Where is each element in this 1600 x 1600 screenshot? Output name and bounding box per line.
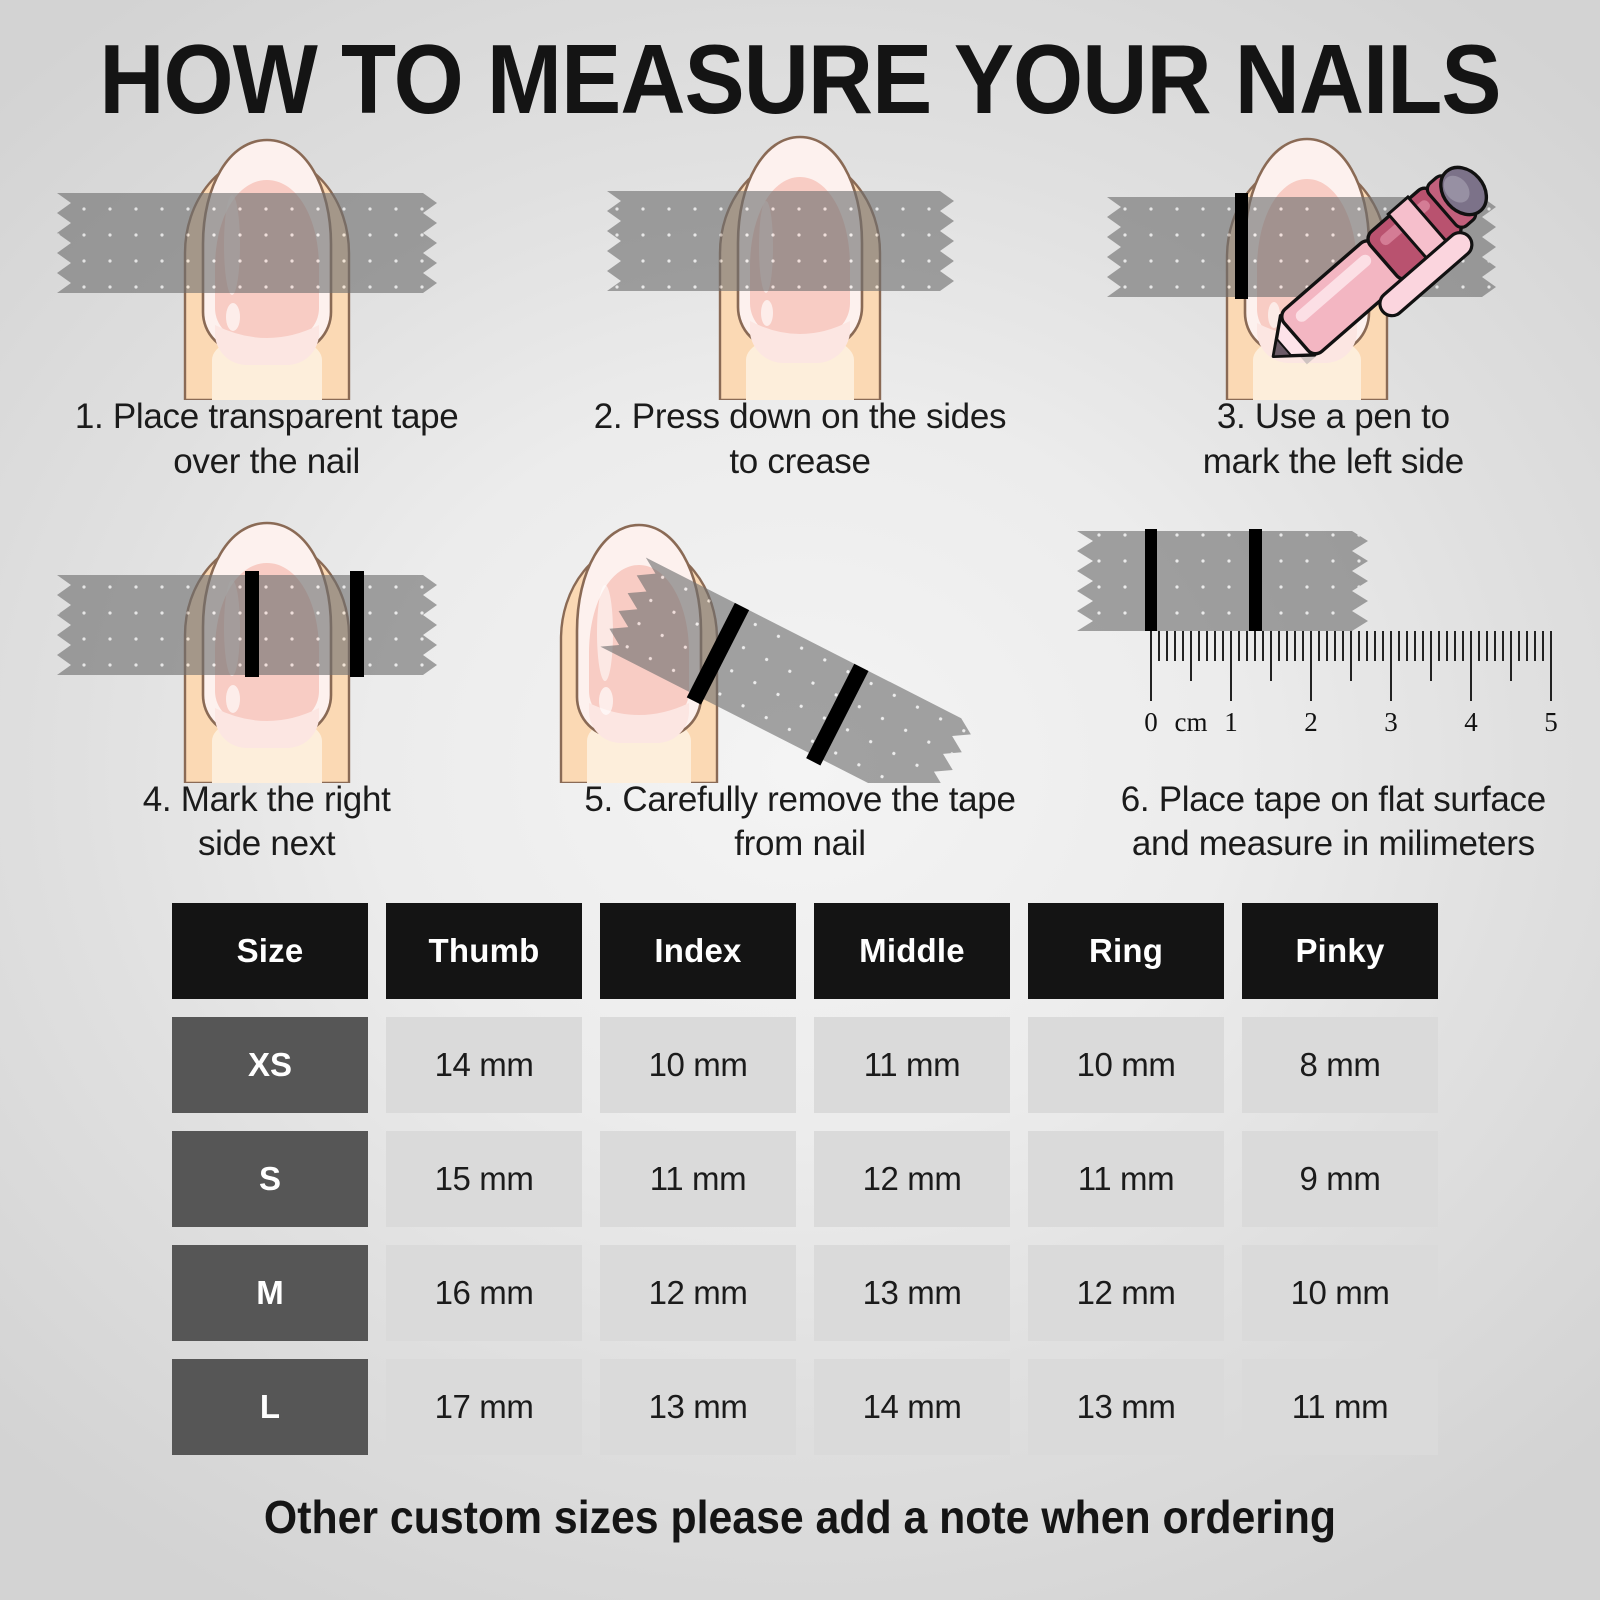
page-title: HOW TO MEASURE YOUR NAILS xyxy=(64,30,1536,130)
nail-with-two-marks-icon xyxy=(0,503,533,778)
table-header-pinky: Pinky xyxy=(1242,903,1438,999)
cell-s-index: 11 mm xyxy=(600,1131,796,1227)
table-row: XS 14 mm 10 mm 11 mm 10 mm 8 mm xyxy=(172,1017,1440,1113)
step-6: 0 cm 1 2 3 4 5 6. Place tape on flat sur… xyxy=(1067,503,1600,868)
cell-l-thumb: 17 mm xyxy=(386,1359,582,1455)
size-label-l: L xyxy=(172,1359,368,1455)
ruler-tick-2: 2 xyxy=(1304,707,1318,737)
step-4-caption: 4. Mark the right side next xyxy=(0,778,533,868)
cell-m-ring: 12 mm xyxy=(1028,1245,1224,1341)
cell-l-index: 13 mm xyxy=(600,1359,796,1455)
table-row: S 15 mm 11 mm 12 mm 11 mm 9 mm xyxy=(172,1131,1440,1227)
size-label-xs: XS xyxy=(172,1017,368,1113)
step-6-caption: 6. Place tape on flat surface and measur… xyxy=(1067,778,1600,868)
table-header-thumb: Thumb xyxy=(386,903,582,999)
nail-with-pen-icon xyxy=(1067,125,1600,395)
table-row: M 16 mm 12 mm 13 mm 12 mm 10 mm xyxy=(172,1245,1440,1341)
step-2-caption: 2. Press down on the sides to crease xyxy=(533,395,1066,485)
table-header-row: Size Thumb Index Middle Ring Pinky xyxy=(172,903,1440,999)
cell-xs-middle: 11 mm xyxy=(814,1017,1010,1113)
cell-l-ring: 13 mm xyxy=(1028,1359,1224,1455)
cell-m-pinky: 10 mm xyxy=(1242,1245,1438,1341)
table-header-index: Index xyxy=(600,903,796,999)
ruler-tick-5: 5 xyxy=(1544,707,1558,737)
step-4: 4. Mark the right side next xyxy=(0,503,533,868)
ruler-tick-3: 3 xyxy=(1384,707,1398,737)
footer-note: Other custom sizes please add a note whe… xyxy=(56,1490,1544,1544)
cell-s-pinky: 9 mm xyxy=(1242,1131,1438,1227)
step-1-caption-line1: 1. Place transparent tape xyxy=(14,395,519,440)
nail-with-tape-icon xyxy=(0,125,533,395)
step-2: 2. Press down on the sides to crease xyxy=(533,125,1066,485)
step-1-caption-line2: over the nail xyxy=(14,440,519,485)
cell-l-middle: 14 mm xyxy=(814,1359,1010,1455)
size-chart-table: Size Thumb Index Middle Ring Pinky XS 14… xyxy=(172,903,1440,1455)
step-3-caption: 3. Use a pen to mark the left side xyxy=(1067,395,1600,485)
step-5-caption: 5. Carefully remove the tape from nail xyxy=(533,778,1066,868)
step-2-caption-line1: 2. Press down on the sides xyxy=(547,395,1052,440)
cell-m-middle: 13 mm xyxy=(814,1245,1010,1341)
ruler-unit-label: cm xyxy=(1174,707,1207,737)
ruler-tick-4: 4 xyxy=(1464,707,1478,737)
step-4-caption-line1: 4. Mark the right xyxy=(14,778,519,823)
step-6-caption-line1: 6. Place tape on flat surface xyxy=(1081,778,1586,823)
step-3-caption-line2: mark the left side xyxy=(1081,440,1586,485)
table-header-middle: Middle xyxy=(814,903,1010,999)
steps-section: 1. Place transparent tape over the nail xyxy=(0,125,1600,867)
steps-row-2: 4. Mark the right side next xyxy=(0,503,1600,868)
step-1: 1. Place transparent tape over the nail xyxy=(0,125,533,485)
steps-row-1: 1. Place transparent tape over the nail xyxy=(0,125,1600,485)
cell-xs-pinky: 8 mm xyxy=(1242,1017,1438,1113)
table-header-size: Size xyxy=(172,903,368,999)
table-row: L 17 mm 13 mm 14 mm 13 mm 11 mm xyxy=(172,1359,1440,1455)
cell-m-thumb: 16 mm xyxy=(386,1245,582,1341)
size-label-m: M xyxy=(172,1245,368,1341)
step-3-caption-line1: 3. Use a pen to xyxy=(1081,395,1586,440)
cell-l-pinky: 11 mm xyxy=(1242,1359,1438,1455)
cell-xs-thumb: 14 mm xyxy=(386,1017,582,1113)
cell-xs-index: 10 mm xyxy=(600,1017,796,1113)
size-label-s: S xyxy=(172,1131,368,1227)
cell-m-index: 12 mm xyxy=(600,1245,796,1341)
cell-s-thumb: 15 mm xyxy=(386,1131,582,1227)
ruler-tick-0: 0 xyxy=(1144,707,1158,737)
step-6-caption-line2: and measure in milimeters xyxy=(1081,822,1586,867)
tape-on-ruler-icon: 0 cm 1 2 3 4 5 xyxy=(1067,503,1600,778)
ruler-tick-1: 1 xyxy=(1224,707,1238,737)
step-4-caption-line2: side next xyxy=(14,822,519,867)
step-3: 3. Use a pen to mark the left side xyxy=(1067,125,1600,485)
tape-peeled-off-icon xyxy=(533,503,1066,778)
nail-with-creased-tape-icon xyxy=(533,125,1066,395)
cell-xs-ring: 10 mm xyxy=(1028,1017,1224,1113)
step-5: 5. Carefully remove the tape from nail xyxy=(533,503,1066,868)
cell-s-middle: 12 mm xyxy=(814,1131,1010,1227)
step-2-caption-line2: to crease xyxy=(547,440,1052,485)
step-1-caption: 1. Place transparent tape over the nail xyxy=(0,395,533,485)
step-5-caption-line2: from nail xyxy=(547,822,1052,867)
table-header-ring: Ring xyxy=(1028,903,1224,999)
step-5-caption-line1: 5. Carefully remove the tape xyxy=(547,778,1052,823)
cell-s-ring: 11 mm xyxy=(1028,1131,1224,1227)
